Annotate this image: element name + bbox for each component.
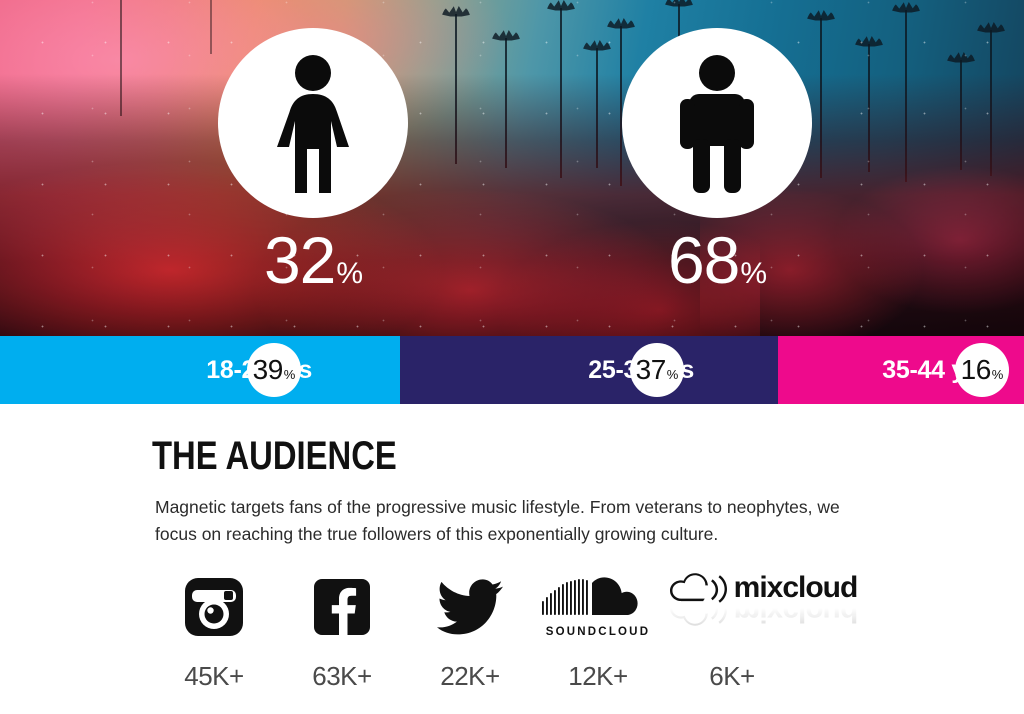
percent-symbol: % bbox=[284, 348, 296, 402]
mixcloud-wordmark: mixcloud bbox=[734, 571, 858, 605]
social-stat-twitter[interactable]: 22K+ bbox=[406, 571, 534, 692]
facebook-follower-count: 63K+ bbox=[312, 661, 371, 692]
percent-symbol: % bbox=[740, 257, 766, 290]
social-stats-row: 45K+ 63K+ 22K+ bbox=[150, 559, 862, 692]
gender-stat-male: 68% bbox=[622, 28, 812, 310]
hero-banner: 32% 68% bbox=[0, 0, 1024, 336]
soundcloud-icon[interactable]: SOUNDCLOUD bbox=[540, 571, 656, 643]
age-distribution-bar: 18-24 yrs 25-34 yrs 35-44 yrs 39% 37% 16… bbox=[0, 336, 1024, 404]
twitter-follower-count: 22K+ bbox=[440, 661, 499, 692]
twitter-icon[interactable] bbox=[437, 571, 503, 643]
age-percentage-value: 39 bbox=[253, 343, 283, 397]
page-title: THE AUDIENCE bbox=[152, 434, 397, 479]
instagram-follower-count: 45K+ bbox=[184, 661, 243, 692]
age-percentage-bubble-18-24: 39% bbox=[247, 343, 301, 397]
age-percentage-bubble-25-34: 37% bbox=[630, 343, 684, 397]
female-percentage-value: 32 bbox=[264, 223, 335, 297]
age-percentage-bubble-35-44: 16% bbox=[955, 343, 1009, 397]
social-stat-instagram[interactable]: 45K+ bbox=[150, 571, 278, 692]
instagram-icon[interactable] bbox=[184, 571, 244, 643]
mixcloud-wordmark-reflected: mixcloud bbox=[734, 606, 858, 628]
age-segment-18-24: 18-24 yrs bbox=[0, 336, 400, 404]
social-stat-mixcloud[interactable]: mixcloud mixcloud 6K+ bbox=[662, 559, 862, 692]
percent-symbol: % bbox=[992, 348, 1004, 402]
female-percentage: 32% bbox=[218, 224, 408, 310]
audience-description: Magnetic targets fans of the progressive… bbox=[155, 494, 885, 548]
male-percentage: 68% bbox=[622, 224, 812, 310]
male-percentage-value: 68 bbox=[668, 223, 739, 297]
soundcloud-wordmark: SOUNDCLOUD bbox=[540, 626, 656, 638]
mixcloud-reflection: mixcloud bbox=[667, 606, 858, 628]
age-percentage-value: 16 bbox=[961, 343, 991, 397]
audience-section: THE AUDIENCE Magnetic targets fans of th… bbox=[0, 404, 1024, 714]
sparkle-overlay bbox=[0, 0, 1024, 336]
social-stat-soundcloud[interactable]: SOUNDCLOUD 12K+ bbox=[534, 571, 662, 692]
female-figure-icon bbox=[255, 53, 371, 193]
male-figure-icon bbox=[664, 53, 770, 193]
age-percentage-value: 37 bbox=[636, 343, 666, 397]
mixcloud-follower-count: 6K+ bbox=[709, 661, 755, 692]
soundcloud-follower-count: 12K+ bbox=[568, 661, 627, 692]
male-icon-circle bbox=[622, 28, 812, 218]
gender-stat-female: 32% bbox=[218, 28, 408, 310]
female-icon-circle bbox=[218, 28, 408, 218]
social-stat-facebook[interactable]: 63K+ bbox=[278, 571, 406, 692]
percent-symbol: % bbox=[336, 257, 362, 290]
percent-symbol: % bbox=[667, 348, 679, 402]
mixcloud-icon[interactable]: mixcloud mixcloud bbox=[667, 559, 858, 643]
age-segment-25-34: 25-34 yrs bbox=[400, 336, 778, 404]
facebook-icon[interactable] bbox=[313, 571, 371, 643]
